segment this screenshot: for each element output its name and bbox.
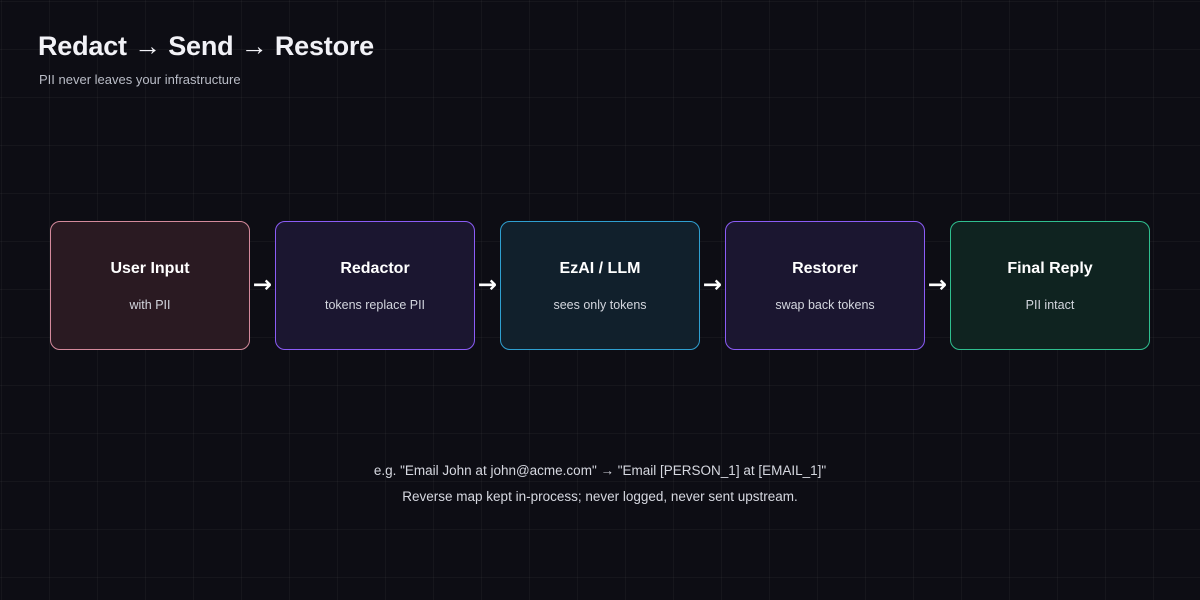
pipeline-flow: User Inputwith PII→Redactortokens replac… xyxy=(50,221,1150,350)
node-subtitle-redactor: tokens replace PII xyxy=(325,298,425,312)
node-subtitle-user-input: with PII xyxy=(130,298,171,312)
arrow-user-input-to-redactor: → xyxy=(250,221,275,350)
node-title-user-input: User Input xyxy=(110,260,189,278)
node-title-ezai-llm: EzAI / LLM xyxy=(560,260,641,278)
node-user-input[interactable]: User Inputwith PII xyxy=(50,221,250,350)
node-subtitle-restorer: swap back tokens xyxy=(775,298,874,312)
arrow-redactor-to-ezai-llm: → xyxy=(475,221,500,350)
diagram-canvas: Redact → Send → Restore PII never leaves… xyxy=(0,0,1200,600)
footer-line-2: Reverse map kept in-process; never logge… xyxy=(0,484,1200,510)
footer-notes: e.g. "Email John at john@acme.com" → "Em… xyxy=(0,458,1200,510)
footer-line-1: e.g. "Email John at john@acme.com" → "Em… xyxy=(0,458,1200,484)
node-title-restorer: Restorer xyxy=(792,260,858,278)
node-restorer[interactable]: Restorerswap back tokens xyxy=(725,221,925,350)
node-subtitle-final-reply: PII intact xyxy=(1026,298,1075,312)
node-final-reply[interactable]: Final ReplyPII intact xyxy=(950,221,1150,350)
page-subtitle: PII never leaves your infrastructure xyxy=(39,72,241,87)
node-title-final-reply: Final Reply xyxy=(1007,260,1092,278)
arrow-ezai-llm-to-restorer: → xyxy=(700,221,725,350)
node-redactor[interactable]: Redactortokens replace PII xyxy=(275,221,475,350)
page-title: Redact → Send → Restore xyxy=(38,31,374,62)
node-ezai-llm[interactable]: EzAI / LLMsees only tokens xyxy=(500,221,700,350)
node-title-redactor: Redactor xyxy=(340,260,409,278)
node-subtitle-ezai-llm: sees only tokens xyxy=(553,298,646,312)
arrow-restorer-to-final-reply: → xyxy=(925,221,950,350)
